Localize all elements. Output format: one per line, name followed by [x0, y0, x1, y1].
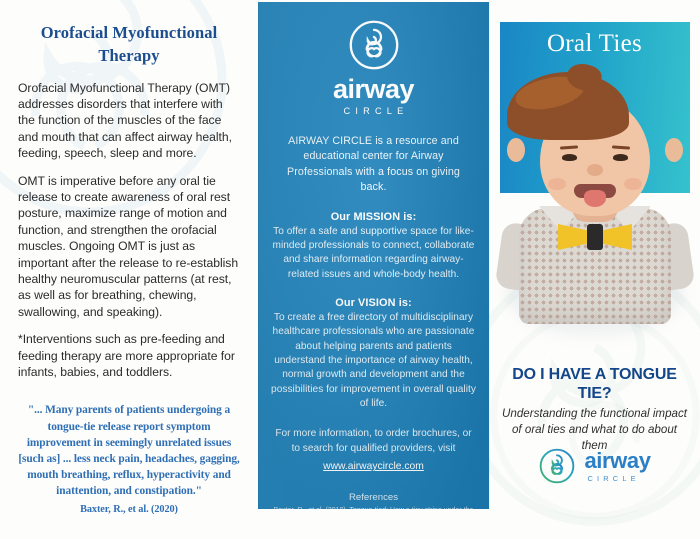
- pull-quote-citation: Baxter, R., et al. (2020): [18, 503, 240, 518]
- logo-subtext: CIRCLE: [584, 474, 650, 483]
- bowtie-knot: [587, 224, 603, 250]
- omt-paragraph-2: OMT is imperative before any oral tie re…: [18, 173, 240, 321]
- panel-orofacial-myofunctional-therapy: Orofacial Myofunctional Therapy Orofacia…: [0, 0, 258, 509]
- panel-cover-oral-ties: Oral Ties DO I HAVE A TONGUE TI: [489, 0, 700, 509]
- panel-about-airway-circle: airway CIRCLE AIRWAY CIRCLE is a resourc…: [258, 2, 489, 509]
- yellow-bowtie: [558, 224, 632, 250]
- logo-wordmark: airway: [584, 450, 650, 472]
- triskelion-spiral-icon: [347, 18, 401, 72]
- cover-title: Oral Ties: [489, 30, 700, 58]
- bowtie-right-wing: [603, 224, 632, 250]
- omt-paragraph-3: *Interventions such as pre-feeding and f…: [18, 331, 240, 380]
- fold-line-right: [489, 0, 490, 509]
- mission-text: To offer a safe and supportive space for…: [271, 225, 476, 282]
- bowtie-left-wing: [558, 224, 587, 250]
- vision-text: To create a free directory of multidisci…: [271, 311, 476, 411]
- eyebrow-right: [612, 145, 630, 149]
- omt-paragraph-1: Orofacial Myofunctional Therapy (OMT) ad…: [18, 80, 240, 162]
- fold-line-left: [258, 0, 259, 509]
- airway-circle-logo-footer: airway CIRCLE: [489, 447, 700, 485]
- mission-heading: Our MISSION is:: [271, 211, 476, 223]
- eye-right: [613, 154, 628, 161]
- references-heading: References: [271, 492, 476, 503]
- nose: [587, 164, 603, 176]
- vision-heading: Our VISION is:: [271, 297, 476, 309]
- ear-left: [507, 138, 525, 162]
- about-intro-text: AIRWAY CIRCLE is a resource and educatio…: [273, 134, 474, 196]
- cheek-right: [624, 178, 642, 190]
- logo-wordmark: airway: [314, 76, 434, 103]
- pull-quote-text: "... Many parents of patients undergoing…: [18, 404, 239, 497]
- toddler-photo: [513, 74, 677, 324]
- cheek-left: [548, 178, 566, 190]
- ear-right: [665, 138, 683, 162]
- eyebrow-left: [560, 145, 578, 149]
- triskelion-spiral-icon: [538, 447, 576, 485]
- cover-headline: DO I HAVE A TONGUE TIE?: [495, 365, 694, 403]
- website-link[interactable]: www.airwaycircle.com: [323, 461, 424, 472]
- tongue: [584, 190, 606, 207]
- contact-text: For more information, to order brochures…: [271, 427, 476, 456]
- logo-subtext: CIRCLE: [314, 106, 434, 116]
- eye-left: [562, 154, 577, 161]
- pull-quote: "... Many parents of patients undergoing…: [18, 402, 240, 517]
- page-title: Orofacial Myofunctional Therapy: [18, 22, 240, 68]
- airway-circle-logo: airway CIRCLE: [314, 18, 434, 116]
